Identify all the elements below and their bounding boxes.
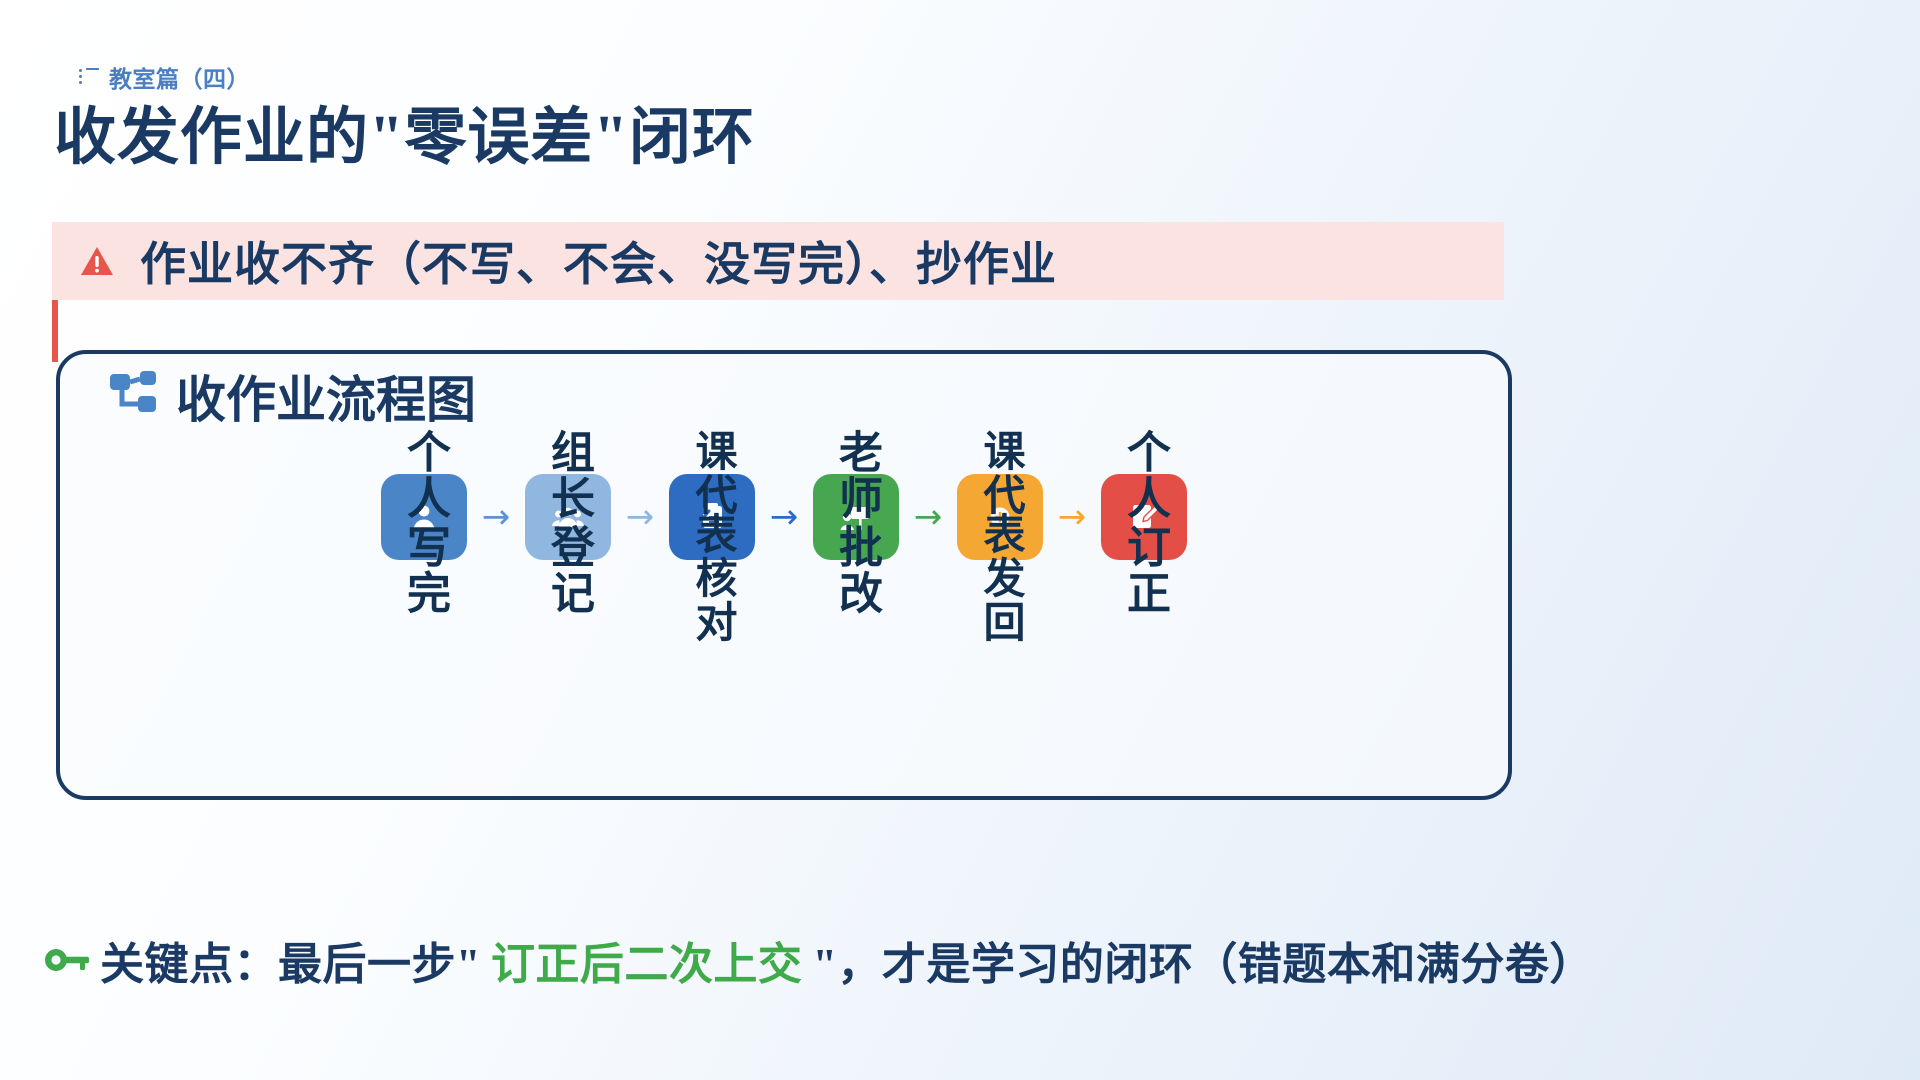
sitemap-icon: [108, 370, 164, 422]
group-icon: [551, 500, 585, 534]
flow-connector-4: →: [899, 500, 957, 534]
warning-triangle-icon: [80, 245, 114, 277]
flow-node-group-register[interactable]: 组长 登记: [525, 474, 611, 560]
flow-node-monitor-return[interactable]: 课代 表发回: [957, 474, 1043, 560]
flow-connector-1: →: [467, 500, 525, 534]
person-icon: [407, 500, 441, 534]
flow-connector-3: →: [755, 500, 813, 534]
key-point-suffix: "，才是学习的闭环（错题本和满分卷）: [812, 928, 1593, 992]
flow-node-person-correct[interactable]: 个人 订正: [1101, 474, 1187, 560]
clipboard-check-icon: [695, 500, 729, 534]
warning-text: 作业收不齐（不写、不会、没写完）、抄作业: [140, 228, 1057, 294]
key-point-prefix: 关键点：最后一步": [100, 928, 481, 992]
flow-node-chip: [957, 474, 1043, 560]
flow-node-teacher-grade[interactable]: 老师 批改: [813, 474, 899, 560]
key-point-line: 关键点：最后一步" 订正后二次上交 "，才是学习的闭环（错题本和满分卷）: [44, 928, 1594, 992]
key-icon: [44, 943, 90, 977]
edit-note-icon: [1127, 500, 1161, 534]
flowchart-header: 收作业流程图: [108, 360, 476, 432]
flow-node-monitor-check[interactable]: 课代 表核对: [669, 474, 755, 560]
flow-node-chip: [1101, 474, 1187, 560]
flow-connector-5: →: [1043, 500, 1101, 534]
warning-banner: 作业收不齐（不写、不会、没写完）、抄作业: [52, 222, 1504, 300]
flow-node-chip: [669, 474, 755, 560]
flowchart-card: 收作业流程图 个人 写完 →: [56, 350, 1512, 800]
flow-node-person-write[interactable]: 个人 写完: [381, 474, 467, 560]
flow-node-row: 个人 写完 → 组长 登记: [60, 474, 1508, 560]
page-title: 收发作业的"零误差"闭环: [54, 86, 755, 176]
key-point-highlight: 订正后二次上交: [491, 928, 803, 992]
handoff-icon: [983, 500, 1017, 534]
red-accent-rail: [52, 300, 58, 362]
flow-node-chip: [525, 474, 611, 560]
teacher-icon: [839, 500, 873, 534]
flow-node-chip: [381, 474, 467, 560]
flowchart-title: 收作业流程图: [176, 360, 476, 432]
flow-connector-2: →: [611, 500, 669, 534]
flow-node-chip: [813, 474, 899, 560]
list-icon: [78, 68, 100, 87]
